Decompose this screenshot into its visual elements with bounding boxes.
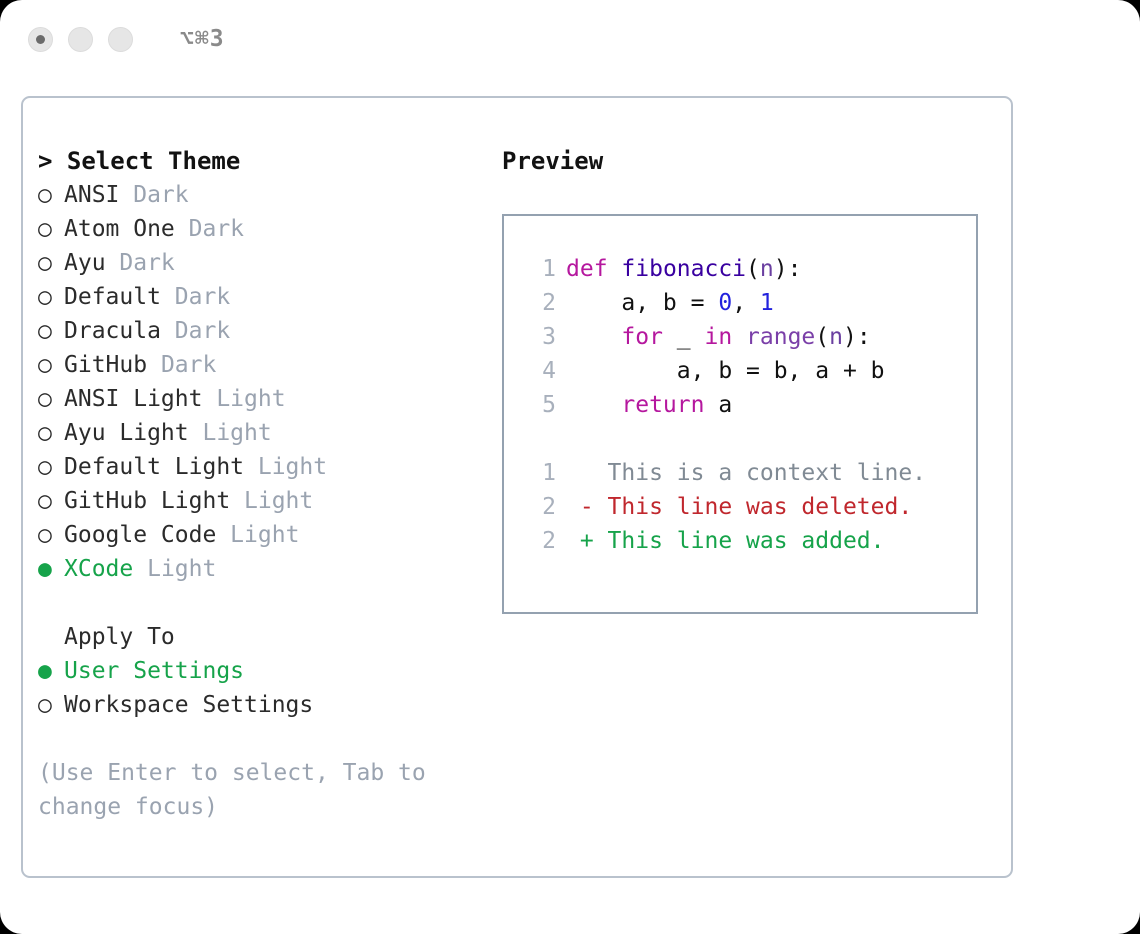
line-number: 2 [522, 490, 556, 524]
diff-line-text: - This line was deleted. [566, 494, 912, 520]
preview-box: 1def fibonacci(n):2 a, b = 0, 13 for _ i… [502, 214, 978, 614]
line-number: 5 [522, 388, 556, 422]
radio-unselected-icon: ○ [38, 688, 64, 722]
radio-unselected-icon: ○ [38, 178, 64, 212]
line-number: 1 [522, 456, 556, 490]
theme-item-github[interactable]: ○GitHub Dark [38, 348, 498, 382]
diff-line-text: + This line was added. [566, 528, 885, 554]
radio-selected-icon: ● [38, 654, 64, 688]
theme-item-kind: Light [202, 386, 285, 412]
code-token: 1 [760, 290, 774, 316]
apply-to-heading: Apply To [38, 620, 498, 654]
code-token: ( [746, 256, 760, 282]
select-theme-heading: > Select Theme [38, 144, 498, 178]
code-token: ): [774, 256, 802, 282]
radio-unselected-icon: ○ [38, 314, 64, 348]
theme-item-default-light[interactable]: ○Default Light Light [38, 450, 498, 484]
code-token: _ [663, 324, 705, 350]
theme-item-default[interactable]: ○Default Dark [38, 280, 498, 314]
theme-item-name: Atom One [64, 216, 175, 242]
line-number: 1 [522, 252, 556, 286]
window-dot-second[interactable] [68, 27, 93, 52]
theme-item-ansi[interactable]: ○ANSI Dark [38, 178, 498, 212]
code-line: 3 for _ in range(n): [522, 320, 976, 354]
code-token [732, 324, 746, 350]
theme-item-kind: Dark [119, 182, 188, 208]
theme-item-ayu-light[interactable]: ○Ayu Light Light [38, 416, 498, 450]
theme-item-xcode[interactable]: ●XCode Light [38, 552, 498, 586]
theme-item-kind: Dark [161, 318, 230, 344]
code-token [608, 256, 622, 282]
theme-item-ayu[interactable]: ○Ayu Dark [38, 246, 498, 280]
theme-item-kind: Light [230, 488, 313, 514]
code-token: ): [843, 324, 871, 350]
code-sample: 1def fibonacci(n):2 a, b = 0, 13 for _ i… [522, 252, 976, 422]
code-line: 1def fibonacci(n): [522, 252, 976, 286]
radio-unselected-icon: ○ [38, 484, 64, 518]
theme-picker-column: > Select Theme ○ANSI Dark○Atom One Dark○… [38, 144, 498, 824]
keyboard-shortcut-label: ⌥⌘3 [180, 26, 225, 52]
apply-to-option-user-settings[interactable]: ●User Settings [38, 654, 498, 688]
theme-item-kind: Dark [161, 284, 230, 310]
theme-item-name: ANSI Light [64, 386, 202, 412]
theme-item-name: Ayu Light [64, 420, 189, 446]
theme-item-name: ANSI [64, 182, 119, 208]
theme-item-kind: Light [244, 454, 327, 480]
theme-item-name: Google Code [64, 522, 216, 548]
code-token: def [566, 256, 608, 282]
window-dot-active-inner [36, 35, 45, 44]
line-number: 2 [522, 286, 556, 320]
line-number: 2 [522, 524, 556, 558]
window-dot-active[interactable] [28, 27, 53, 52]
diff-line-text: This is a context line. [566, 460, 926, 486]
preview-heading: Preview [502, 144, 1002, 178]
code-token: , [732, 290, 760, 316]
theme-item-kind: Light [133, 556, 216, 582]
theme-item-kind: Light [216, 522, 299, 548]
diff-line: 2 - This line was deleted. [522, 490, 976, 524]
theme-item-kind: Light [189, 420, 272, 446]
theme-item-name: Dracula [64, 318, 161, 344]
radio-unselected-icon: ○ [38, 382, 64, 416]
code-token: a [704, 392, 732, 418]
theme-item-name: Default Light [64, 454, 244, 480]
radio-unselected-icon: ○ [38, 212, 64, 246]
window-titlebar: ⌥⌘3 [0, 0, 1140, 78]
window-dot-third[interactable] [108, 27, 133, 52]
theme-item-ansi-light[interactable]: ○ANSI Light Light [38, 382, 498, 416]
code-token: n [760, 256, 774, 282]
theme-item-google-code[interactable]: ○Google Code Light [38, 518, 498, 552]
code-token: n [829, 324, 843, 350]
apply-to-option-label: Workspace Settings [64, 692, 313, 718]
line-number: 4 [522, 354, 556, 388]
keyboard-hint: (Use Enter to select, Tab to change focu… [38, 756, 438, 824]
code-token: ( [815, 324, 829, 350]
diff-line: 2 + This line was added. [522, 524, 976, 558]
apply-to-option-label: User Settings [64, 658, 244, 684]
code-token: range [746, 324, 815, 350]
theme-item-github-light[interactable]: ○GitHub Light Light [38, 484, 498, 518]
theme-item-kind: Dark [175, 216, 244, 242]
code-token: in [704, 324, 732, 350]
diff-line: 1 This is a context line. [522, 456, 976, 490]
code-line: 5 return a [522, 388, 976, 422]
radio-unselected-icon: ○ [38, 348, 64, 382]
apply-to-option-workspace-settings[interactable]: ○Workspace Settings [38, 688, 498, 722]
theme-item-kind: Dark [106, 250, 175, 276]
code-token: 0 [718, 290, 732, 316]
app-window: ⌥⌘3 > Select Theme ○ANSI Dark○Atom One D… [0, 0, 1140, 934]
theme-item-dracula[interactable]: ○Dracula Dark [38, 314, 498, 348]
theme-list: ○ANSI Dark○Atom One Dark○Ayu Dark○Defaul… [38, 178, 498, 586]
radio-unselected-icon: ○ [38, 416, 64, 450]
code-line: 2 a, b = 0, 1 [522, 286, 976, 320]
radio-unselected-icon: ○ [38, 518, 64, 552]
code-token: a, b = [566, 290, 718, 316]
radio-unselected-icon: ○ [38, 280, 64, 314]
preview-column: Preview 1def fibonacci(n):2 a, b = 0, 13… [502, 144, 1002, 614]
theme-item-name: Default [64, 284, 161, 310]
apply-to-list: ●User Settings○Workspace Settings [38, 654, 498, 722]
theme-item-atom-one[interactable]: ○Atom One Dark [38, 212, 498, 246]
code-token: for [621, 324, 663, 350]
code-token [566, 392, 621, 418]
code-token: a, b = b, a + b [566, 358, 885, 384]
radio-selected-icon: ● [38, 552, 64, 586]
line-number: 3 [522, 320, 556, 354]
theme-item-kind: Dark [147, 352, 216, 378]
code-line: 4 a, b = b, a + b [522, 354, 976, 388]
radio-unselected-icon: ○ [38, 450, 64, 484]
theme-item-name: GitHub [64, 352, 147, 378]
theme-item-name: GitHub Light [64, 488, 230, 514]
theme-item-name: XCode [64, 556, 133, 582]
main-panel: > Select Theme ○ANSI Dark○Atom One Dark○… [21, 96, 1013, 878]
diff-sample: 1 This is a context line.2 - This line w… [522, 456, 976, 558]
code-token: return [621, 392, 704, 418]
theme-item-name: Ayu [64, 250, 106, 276]
code-token [566, 324, 621, 350]
panel-columns: > Select Theme ○ANSI Dark○Atom One Dark○… [23, 98, 1011, 876]
radio-unselected-icon: ○ [38, 246, 64, 280]
code-token: fibonacci [621, 256, 746, 282]
code-spacer [522, 422, 976, 456]
